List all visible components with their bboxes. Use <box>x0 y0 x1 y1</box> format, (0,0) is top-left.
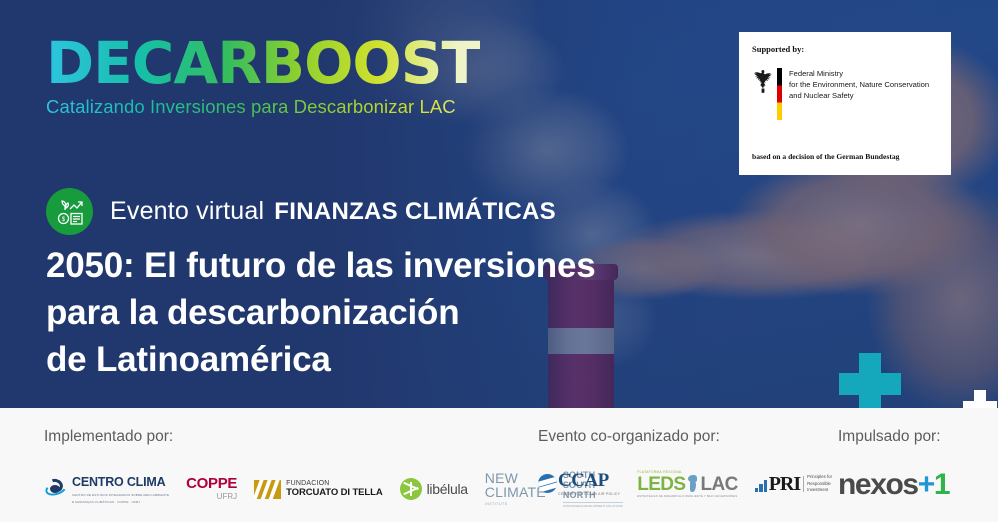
coppe-sub: UFRJ <box>186 492 237 502</box>
ministry-name: Federal Ministry for the Environment, Na… <box>789 68 929 101</box>
pri-subtitle: Principles for Responsible Investment <box>807 474 832 493</box>
libelula-dragonfly-icon <box>400 478 422 500</box>
bundesadler-eagle-icon <box>752 68 774 94</box>
nexos-name: nexos <box>838 470 918 500</box>
ccap-sub: CENTER FOR CLEAN AIR POLICY <box>558 492 620 496</box>
libelula-name: libélula <box>427 481 468 497</box>
centro-clima-sub-1: CENTRO DE ESTUDOS INTEGRADOS SOBRE MEIO … <box>72 493 169 498</box>
logo-ccap[interactable]: CCAP CENTER FOR CLEAN AIR POLICY <box>538 472 620 496</box>
pri-sub-1: Principles for <box>807 474 832 480</box>
leds-text: PLATAFORMA REGIONAL LEDS LAC ESTRATEGIAS… <box>637 470 738 498</box>
torcuato-text: FUNDACION TORCUATO DI TELLA <box>286 480 382 498</box>
implemented-by-logos: CENTRO CLIMA CENTRO DE ESTUDOS INTEGRADO… <box>44 470 623 508</box>
supported-by-title: Supported by: <box>752 44 939 54</box>
event-category-label: FINANZAS CLIMÁTICAS <box>274 198 556 226</box>
ministry-line-1: Federal Ministry <box>789 68 929 79</box>
centro-clima-name: CENTRO CLIMA <box>72 475 165 489</box>
pri-divider <box>803 476 804 492</box>
footer-column-implemented: Implementado por: CENTRO CLIMA CENTRO DE… <box>44 428 623 508</box>
latin-america-map-icon <box>686 474 699 493</box>
nexos-one-digit: 1 <box>934 470 949 500</box>
implemented-by-heading: Implementado por: <box>44 428 623 446</box>
centro-clima-sub-2: E MUDANÇAS CLIMÁTICAS · COPPE · UFRJ <box>72 500 169 505</box>
event-badge-row: $ Evento virtual FINANZAS CLIMÁTICAS <box>46 188 556 235</box>
torcuato-bars-icon <box>254 480 281 499</box>
logo-centro-clima[interactable]: CENTRO CLIMA CENTRO DE ESTUDOS INTEGRADO… <box>44 473 169 504</box>
pri-pixel-blocks-icon <box>755 477 768 492</box>
german-ministry-logo: Federal Ministry for the Environment, Na… <box>752 68 939 120</box>
page-title: 2050: El futuro de las inversiones para … <box>46 243 706 384</box>
event-banner: DECARBOOST Catalizando Inversiones para … <box>0 0 998 522</box>
logo-leds-lac[interactable]: PLATAFORMA REGIONAL LEDS LAC ESTRATEGIAS… <box>637 470 738 498</box>
ministry-line-3: and Nuclear Safety <box>789 90 929 101</box>
leds-mid-line: LEDS LAC <box>637 474 738 493</box>
decarboost-logo: DECARBOOST Catalizando Inversiones para … <box>46 34 480 118</box>
logo-torcuato-di-tella[interactable]: FUNDACION TORCUATO DI TELLA <box>254 480 382 499</box>
headline-line-1: 2050: El futuro de las inversiones <box>46 243 706 290</box>
ccap-text: CCAP CENTER FOR CLEAN AIR POLICY <box>558 472 620 496</box>
logo-coppe-ufrj[interactable]: COPPE UFRJ <box>186 476 237 502</box>
logo-nexos-plus-one[interactable]: nexos + 1 <box>838 470 949 500</box>
partner-footer: Implementado por: CENTRO CLIMA CENTRO DE… <box>0 408 998 522</box>
newclimate-text: NEW CLIMATE INSTITUTE <box>485 472 546 505</box>
svg-text:$: $ <box>61 217 65 223</box>
coppe-name: COPPE <box>186 476 237 491</box>
plus-cross-large-icon <box>839 353 901 415</box>
ccap-name: CCAP <box>558 472 620 490</box>
event-badge-text: Evento virtual FINANZAS CLIMÁTICAS <box>110 197 556 226</box>
centro-clima-text: CENTRO CLIMA CENTRO DE ESTUDOS INTEGRADO… <box>72 473 169 504</box>
centro-clima-swoosh-icon <box>44 477 69 502</box>
torcuato-line-2: TORCUATO DI TELLA <box>286 488 382 498</box>
newclimate-line-2: CLIMATE <box>485 486 546 500</box>
ministry-line-2: for the Environment, Nature Conservation <box>789 79 929 90</box>
leds-bottom-line: ESTRATEGIAS DE DESARROLLO RESILIENTE Y B… <box>637 495 738 498</box>
co-organized-by-heading: Evento co-organizado por: <box>538 428 832 446</box>
logo-wordmark: DECARBOOST <box>46 34 480 92</box>
coppe-text: COPPE UFRJ <box>186 476 237 502</box>
footer-column-driven-by: Impulsado por: nexos + 1 <box>838 428 949 500</box>
newclimate-sub: INSTITUTE <box>485 502 546 506</box>
pri-sub-3: Investment <box>807 487 832 493</box>
co-organized-by-logos: CCAP CENTER FOR CLEAN AIR POLICY PLATAFO… <box>538 470 832 498</box>
finance-growth-icon: $ <box>46 188 93 235</box>
headline-line-2: para la descarbonización <box>46 290 706 337</box>
event-type-label: Evento virtual <box>110 197 264 226</box>
ssn-sub: SUSTAINABLE DEVELOPMENT SOLUTIONS <box>563 502 623 508</box>
footer-column-co-organized: Evento co-organizado por: CCAP CENTER FO… <box>538 428 832 498</box>
nexos-plus-symbol: + <box>918 470 934 500</box>
logo-pri[interactable]: PRI Principles for Responsible Investmen… <box>755 474 832 494</box>
headline-line-3: de Latinoamérica <box>46 337 706 384</box>
ccap-swoosh-icon <box>538 474 557 493</box>
bundestag-footnote: based on a decision of the German Bundes… <box>752 152 899 161</box>
lac-word: LAC <box>700 476 737 493</box>
logo-libelula[interactable]: libélula <box>400 478 468 500</box>
logo-tagline: Catalizando Inversiones para Descarboniz… <box>46 96 480 118</box>
driven-by-heading: Impulsado por: <box>838 428 949 446</box>
german-flag-bar-icon <box>777 68 782 120</box>
supported-by-box: Supported by: Federal Ministry for the E… <box>739 32 951 175</box>
pri-name: PRI <box>769 474 800 494</box>
driven-by-logos: nexos + 1 <box>838 470 949 500</box>
logo-newclimate-institute[interactable]: NEW CLIMATE INSTITUTE <box>485 472 546 505</box>
leds-word: LEDS <box>637 476 685 493</box>
